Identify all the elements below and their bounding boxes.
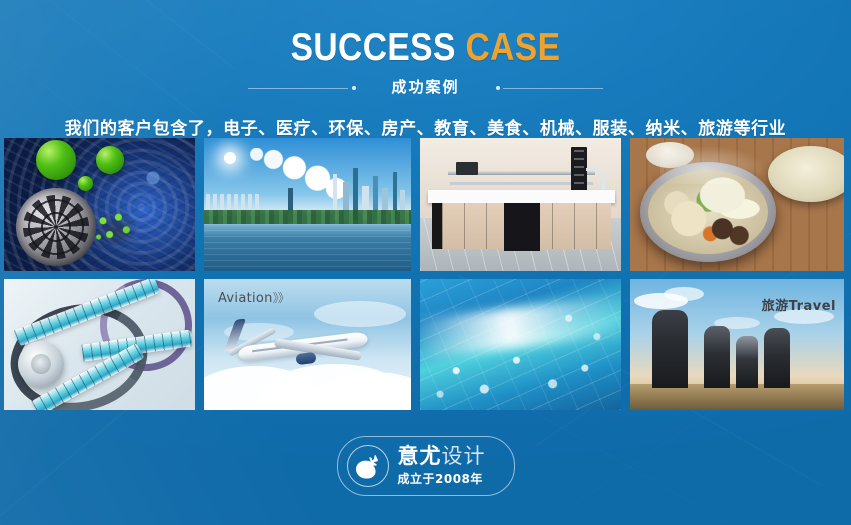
river-water xyxy=(204,224,411,271)
bench-dark-panel xyxy=(504,203,540,251)
page-title: SUCCESS CASE xyxy=(60,26,792,70)
case-gallery-grid: Aviation》》 xyxy=(4,138,847,410)
circuit-components xyxy=(420,279,621,410)
fullerene-cage xyxy=(16,188,96,266)
divider-dot-right xyxy=(496,86,500,90)
gallery-tile-nanotechnology[interactable] xyxy=(4,138,195,271)
aviation-caption-arrows: 》》 xyxy=(273,291,289,305)
lab-control-panel xyxy=(571,147,587,191)
travel-caption: 旅游Travel xyxy=(762,295,836,314)
banner-header: SUCCESS CASE 成功案例 我们的客户包含了，电子、医疗、环保、房产、教… xyxy=(0,0,851,139)
nanotechnology-molecule-image xyxy=(4,138,195,271)
brand-logo[interactable]: 意尤设计 成立于2008年 xyxy=(337,436,515,496)
gallery-tile-electronics[interactable] xyxy=(420,279,621,410)
success-case-banner: SUCCESS CASE 成功案例 我们的客户包含了，电子、医疗、环保、房产、教… xyxy=(0,0,851,525)
aircraft-engine xyxy=(295,352,316,365)
brand-established: 成立于2008年 xyxy=(398,470,486,487)
divider-line-right xyxy=(503,88,603,89)
green-sphere xyxy=(78,176,93,191)
gallery-tile-medical[interactable] xyxy=(4,279,195,410)
green-sphere xyxy=(96,146,124,174)
title-word-success: SUCCESS xyxy=(291,26,456,69)
brand-name-bold: 意尤 xyxy=(398,444,442,468)
gallery-tile-aviation[interactable]: Aviation》》 xyxy=(204,279,411,410)
brand-name: 意尤设计 xyxy=(398,445,486,468)
bench-worktop xyxy=(428,190,615,203)
environmental-industry-image xyxy=(204,138,411,271)
food-hotpot-image xyxy=(630,138,844,271)
gallery-tile-food[interactable] xyxy=(630,138,844,271)
tagline-text: 我们的客户包含了，电子、医疗、环保、房产、教育、美食、机械、服装、纳米、旅游等行… xyxy=(0,114,851,139)
sun-glow xyxy=(224,152,236,164)
tree-line xyxy=(204,210,411,224)
stethoscope-chestpiece xyxy=(18,341,64,387)
green-sphere xyxy=(36,140,76,180)
hiker-silhouette xyxy=(652,310,688,388)
laboratory-furniture-image xyxy=(420,138,621,271)
subtitle-divider: 成功案例 xyxy=(0,76,851,100)
gallery-tile-environment[interactable] xyxy=(204,138,411,271)
hiker-silhouette xyxy=(704,326,730,388)
side-plate xyxy=(768,146,844,202)
title-word-case: CASE xyxy=(456,26,561,69)
aviation-caption-label: Aviation xyxy=(218,291,273,306)
brand-name-thin: 设计 xyxy=(442,444,486,468)
medical-equipment-image xyxy=(4,279,195,410)
subtitle-chinese: 成功案例 xyxy=(0,76,851,97)
gallery-tile-laboratory[interactable] xyxy=(420,138,621,271)
cloud xyxy=(314,301,406,327)
cloud xyxy=(664,287,704,301)
aviation-caption: Aviation》》 xyxy=(218,289,289,306)
lab-instrument xyxy=(456,162,478,175)
electronics-circuit-image xyxy=(420,279,621,410)
brand-text: 意尤设计 成立于2008年 xyxy=(398,445,486,487)
bird-leaf-mark-icon xyxy=(347,445,389,487)
hiker-silhouette xyxy=(736,336,758,388)
particle-cluster xyxy=(92,210,136,246)
hiker-silhouette xyxy=(764,328,790,388)
gallery-tile-travel[interactable]: 旅游Travel xyxy=(630,279,844,410)
steam xyxy=(660,144,770,184)
